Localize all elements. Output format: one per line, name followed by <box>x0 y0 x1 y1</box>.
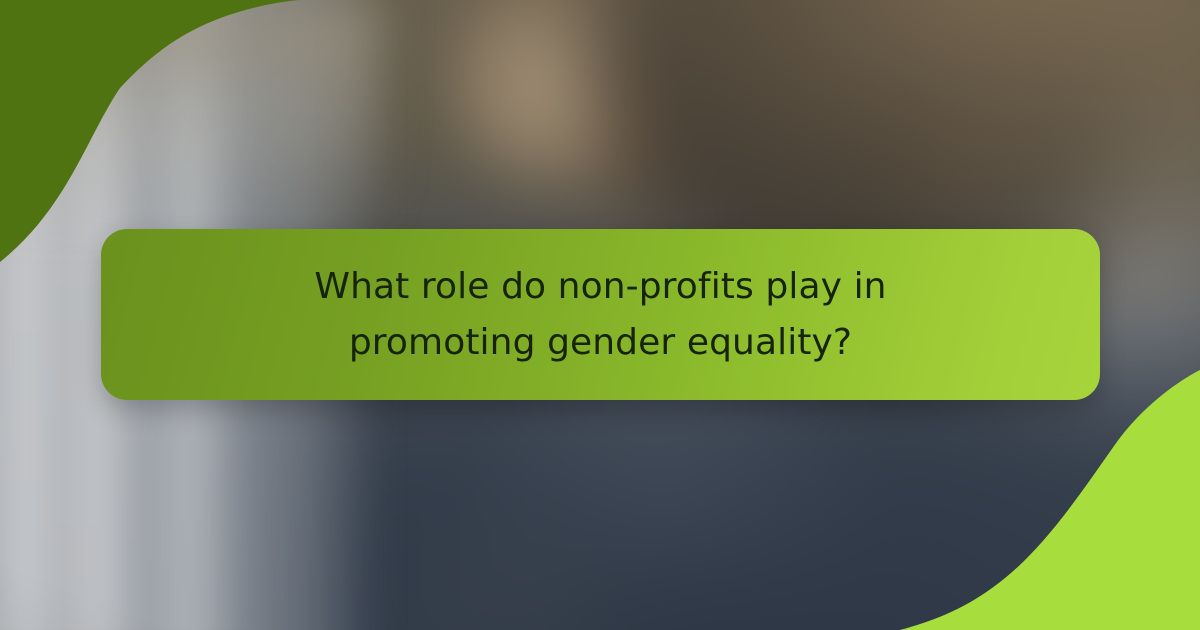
question-text: What role do non-profits play in promoti… <box>221 259 981 371</box>
screenshot-canvas: What role do non-profits play in promoti… <box>0 0 1200 630</box>
question-banner: What role do non-profits play in promoti… <box>101 229 1100 400</box>
